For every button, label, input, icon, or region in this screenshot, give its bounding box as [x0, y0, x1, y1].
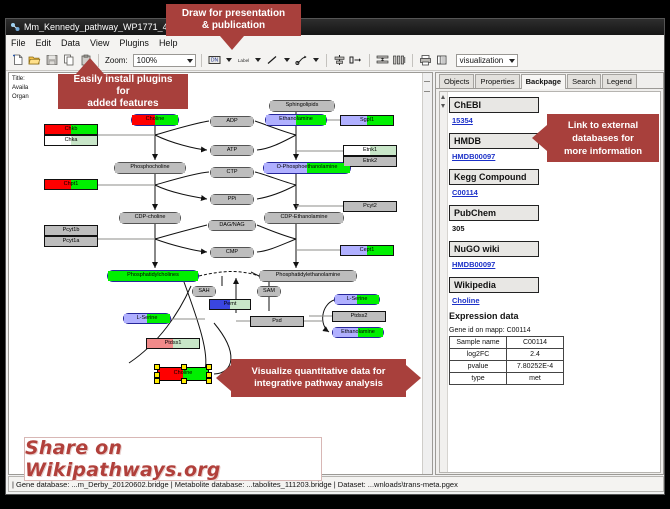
gene-node-pcyt2[interactable]: Pcyt2 — [343, 201, 397, 212]
metabolite-node-phosphocholine[interactable]: Phosphocholine — [114, 162, 186, 174]
chevron-down-icon — [187, 59, 193, 63]
expression-key: Sample name — [450, 337, 507, 349]
node-label: CMP — [226, 250, 238, 256]
callout-plugins-arrow-icon — [76, 58, 104, 74]
menu-item-view[interactable]: View — [85, 36, 114, 50]
gene-node-cept1[interactable]: Cept1 — [340, 245, 394, 256]
toolbar-separator — [201, 54, 202, 67]
metabolite-node-phosphatidylethanolamine[interactable]: Phosphatidylethanolamine — [259, 270, 357, 282]
line-dropdown-arrow-icon[interactable] — [284, 58, 290, 62]
gene-node-pcyt1b[interactable]: Pcyt1b — [44, 225, 98, 236]
metabolite-node-sah[interactable]: SAH — [192, 286, 216, 297]
callout-links: Link to external databases for more info… — [547, 114, 659, 162]
expression-row: Sample nameC00114 — [450, 337, 564, 349]
database-name: PubChem — [449, 205, 539, 221]
metabolite-node-o-phosphoethanolamine[interactable]: O-Phosphoethanolamine — [263, 162, 351, 174]
database-group-kegg-compound: Kegg CompoundC00114 — [449, 167, 658, 197]
gene-node-psd[interactable]: Psd — [250, 316, 304, 327]
callout-draw-line2: & publication — [202, 20, 265, 32]
stack-icon[interactable] — [392, 53, 407, 68]
gene-node-sgpl1[interactable]: Sgpl1 — [340, 115, 394, 126]
print-icon[interactable] — [418, 53, 433, 68]
node-label: Ethanolamine — [341, 330, 375, 336]
toolbar-separator — [369, 54, 370, 67]
node-label: Pemt — [224, 302, 237, 308]
selection-handle-5[interactable] — [154, 378, 160, 384]
gene-node-chka[interactable]: Chka — [44, 135, 98, 146]
node-label: Psd — [272, 319, 281, 325]
callout-draw: Draw for presentation & publication — [166, 4, 301, 36]
share-banner-text: Share on Wikipathways.org — [25, 437, 321, 481]
node-label: Choline — [174, 371, 193, 377]
callout-plugins-line2: added features — [87, 98, 158, 110]
node-label: Pcyt2 — [363, 204, 377, 210]
node-label: Sgpl1 — [360, 118, 374, 124]
gene-node-chkb[interactable]: Chkb — [44, 124, 98, 135]
database-group-pubchem: PubChem305 — [449, 203, 658, 233]
expression-row: log2FC2.4 — [450, 349, 564, 361]
tab-properties[interactable]: Properties — [475, 74, 519, 88]
metabolite-node-cmp[interactable]: CMP — [210, 247, 254, 258]
node-label: SAH — [198, 289, 209, 295]
tab-legend[interactable]: Legend — [602, 74, 637, 88]
gene-node-ptdss2[interactable]: Ptdss2 — [332, 311, 386, 322]
open-folder-icon[interactable] — [27, 53, 42, 68]
align-icon[interactable] — [332, 53, 347, 68]
expression-key: log2FC — [450, 349, 507, 361]
metabolite-node-phosphatidylcholines[interactable]: Phosphatidylcholines — [107, 270, 199, 282]
database-link[interactable]: Choline — [452, 296, 658, 305]
node-label: Ptdss2 — [351, 314, 368, 320]
callout-visualize-arrow-left-icon — [216, 365, 231, 391]
metabolite-node-adp[interactable]: ADP — [210, 116, 254, 127]
metabolite-node-choline-top[interactable]: Choline — [131, 114, 179, 126]
node-label: DAG/NAG — [219, 223, 244, 229]
node-label: Phosphatidylcholines — [127, 273, 179, 279]
database-value: 305 — [452, 224, 658, 233]
database-link[interactable]: HMDB00097 — [452, 260, 658, 269]
node-label: Chka — [65, 138, 78, 144]
database-name: Wikipedia — [449, 277, 539, 293]
svg-text:DN: DN — [211, 58, 219, 64]
menu-item-edit[interactable]: Edit — [31, 36, 57, 50]
database-name: Kegg Compound — [449, 169, 539, 185]
expression-value: 7.80252E-4 — [507, 361, 564, 373]
datanode-icon[interactable]: DN — [207, 53, 222, 68]
menu-item-plugins[interactable]: Plugins — [114, 36, 154, 50]
gene-node-pcyt1a[interactable]: Pcyt1a — [44, 236, 98, 247]
database-group-nugo-wiki: NuGO wikiHMDB00097 — [449, 239, 658, 269]
metabolite-node-ppi[interactable]: PPi — [210, 194, 254, 205]
side-panel-tabs: Objects Properties Backpage Search Legen… — [436, 73, 663, 89]
database-link[interactable]: C00114 — [452, 188, 658, 197]
callout-visualize-line2: integrative pathway analysis — [254, 378, 383, 390]
node-label: Ptdss1 — [165, 341, 182, 347]
zoom-combobox[interactable]: 100% — [133, 54, 196, 67]
metabolite-node-l-serine-left[interactable]: L-Serine — [123, 313, 171, 324]
tab-objects[interactable]: Objects — [439, 74, 474, 88]
tab-backpage[interactable]: Backpage — [521, 74, 566, 89]
expression-value: C00114 — [507, 337, 564, 349]
node-label: ATP — [227, 148, 237, 154]
save-disk-icon[interactable] — [44, 53, 59, 68]
menu-item-data[interactable]: Data — [56, 36, 85, 50]
node-label: CTP — [227, 170, 238, 176]
database-name: NuGO wiki — [449, 241, 539, 257]
node-label: CDP-choline — [135, 215, 166, 221]
node-label: Cept1 — [360, 248, 375, 254]
metabolite-node-ethanolamine-top[interactable]: Ethanolamine — [265, 114, 327, 126]
callout-links-line3: more information — [564, 145, 642, 158]
node-label: Phosphatidylethanolamine — [276, 273, 341, 279]
interaction-dropdown-arrow-icon[interactable] — [313, 58, 319, 62]
database-name: ChEBI — [449, 97, 539, 113]
node-label: Choline — [146, 117, 165, 123]
callout-visualize-arrow-right-icon — [406, 365, 421, 391]
callout-visualize: Visualize quantitative data for integrat… — [231, 359, 406, 397]
node-label: L-Serine — [137, 316, 158, 322]
callout-plugins: Easily install plugins for added feature… — [58, 74, 188, 109]
datanode-dropdown-arrow-icon[interactable] — [226, 58, 232, 62]
node-label: O-Phosphoethanolamine — [277, 165, 338, 171]
callout-draw-line1: Draw for presentation — [182, 8, 285, 20]
distribute-icon[interactable] — [375, 53, 390, 68]
canvas-vertical-scrollbar[interactable] — [422, 73, 432, 474]
svg-text:Label: Label — [237, 58, 248, 63]
metabolite-node-sam[interactable]: SAM — [257, 286, 281, 297]
menu-item-file[interactable]: File — [6, 36, 31, 50]
window-titlebar: Mm_Kennedy_pathway_WP1771_45176.gpml — [6, 19, 664, 35]
copy-icon[interactable] — [61, 53, 76, 68]
menu-bar: File Edit Data View Plugins Help — [6, 35, 664, 51]
expression-value: met — [507, 373, 564, 385]
metabolite-node-l-serine-right[interactable]: L-Serine — [334, 294, 380, 305]
node-label: Etnk2 — [363, 159, 377, 165]
menu-item-help[interactable]: Help — [154, 36, 183, 50]
expression-key: pvalue — [450, 361, 507, 373]
metabolite-node-dagnag[interactable]: DAG/NAG — [208, 220, 256, 231]
share-banner: Share on Wikipathways.org — [24, 437, 322, 481]
metabolite-node-ethanolamine-bottom[interactable]: Ethanolamine — [332, 327, 384, 338]
callout-links-line1: Link to external — [568, 119, 638, 132]
callout-links-arrow-icon — [532, 125, 547, 151]
node-label: Pcyt1b — [63, 228, 80, 234]
gene-node-etnk1[interactable]: Etnk1 — [343, 145, 397, 156]
selection-handle-1[interactable] — [181, 364, 187, 370]
zoom-label: Zoom: — [105, 56, 128, 65]
metabolite-node-ctp[interactable]: CTP — [210, 167, 254, 178]
metabolite-node-cdp-choline[interactable]: CDP-choline — [119, 212, 181, 224]
toolbar-separator — [412, 54, 413, 67]
callout-visualize-line1: Visualize quantitative data for — [252, 366, 386, 378]
node-label: PPi — [228, 197, 237, 203]
node-label: SAM — [263, 289, 275, 295]
expression-row: typemet — [450, 373, 564, 385]
visualization-combobox[interactable]: visualization — [456, 54, 518, 67]
gene-node-ptdss1[interactable]: Ptdss1 — [146, 338, 200, 349]
expression-value: 2.4 — [507, 349, 564, 361]
legend-icon[interactable] — [435, 53, 450, 68]
gene-node-pemt[interactable]: Pemt — [209, 299, 251, 310]
app-icon — [10, 22, 20, 32]
gene-id-label: Gene id on mapp: C00114 — [449, 327, 658, 334]
callout-plugins-line1: Easily install plugins for — [66, 74, 180, 98]
node-label: Pcyt1a — [63, 239, 80, 245]
metabolite-node-atp[interactable]: ATP — [210, 145, 254, 156]
line-icon[interactable] — [265, 53, 280, 68]
expression-key: type — [450, 373, 507, 385]
node-label: Phosphocholine — [130, 165, 169, 171]
node-label: ADP — [226, 119, 237, 125]
callout-draw-arrow-icon — [220, 36, 244, 50]
visualization-value: visualization — [460, 56, 504, 65]
callout-links-line2: databases for — [572, 132, 634, 145]
database-name: HMDB — [449, 133, 539, 149]
toolbar-separator — [326, 54, 327, 67]
toolbar: Zoom: 100% DN Label — [6, 50, 664, 71]
expression-row: pvalue7.80252E-4 — [450, 361, 564, 373]
selection-handle-2[interactable] — [206, 364, 212, 370]
gene-node-chpt1[interactable]: Chpt1 — [44, 179, 98, 190]
label-icon[interactable]: Label — [236, 53, 251, 68]
backpage-scrollbar[interactable] — [440, 92, 448, 472]
database-group-wikipedia: WikipediaCholine — [449, 275, 658, 305]
node-label: Ethanolamine — [279, 117, 313, 123]
zoom-value: 100% — [137, 56, 157, 65]
interaction-icon[interactable] — [294, 53, 309, 68]
label-dropdown-arrow-icon[interactable] — [255, 58, 261, 62]
selection-handle-0[interactable] — [154, 364, 160, 370]
node-label: Etnk1 — [363, 148, 377, 154]
expression-data-heading: Expression data — [449, 311, 658, 321]
tab-search[interactable]: Search — [567, 74, 601, 88]
group-icon[interactable] — [349, 53, 364, 68]
pathvisio-window: Mm_Kennedy_pathway_WP1771_45176.gpml Fil… — [5, 18, 665, 495]
selection-handle-7[interactable] — [206, 378, 212, 384]
metabolite-node-cdp-ethanolamine[interactable]: CDP-Ethanolamine — [264, 212, 344, 224]
node-label: Sphingolipids — [286, 103, 319, 109]
gene-node-etnk2[interactable]: Etnk2 — [343, 156, 397, 167]
pathway-canvas[interactable]: Title: Availa Organ — [8, 72, 433, 475]
selection-handle-6[interactable] — [181, 378, 187, 384]
chevron-down-icon — [509, 59, 515, 63]
node-label: L-Serine — [347, 297, 368, 303]
node-label: Chkb — [65, 127, 78, 133]
metabolite-node-sphingolipids[interactable]: Sphingolipids — [269, 100, 335, 112]
new-file-icon[interactable] — [10, 53, 25, 68]
node-label: Chpt1 — [64, 182, 79, 188]
expression-table: Sample nameC00114log2FC2.4pvalue7.80252E… — [449, 336, 564, 385]
node-label: CDP-Ethanolamine — [280, 215, 327, 221]
